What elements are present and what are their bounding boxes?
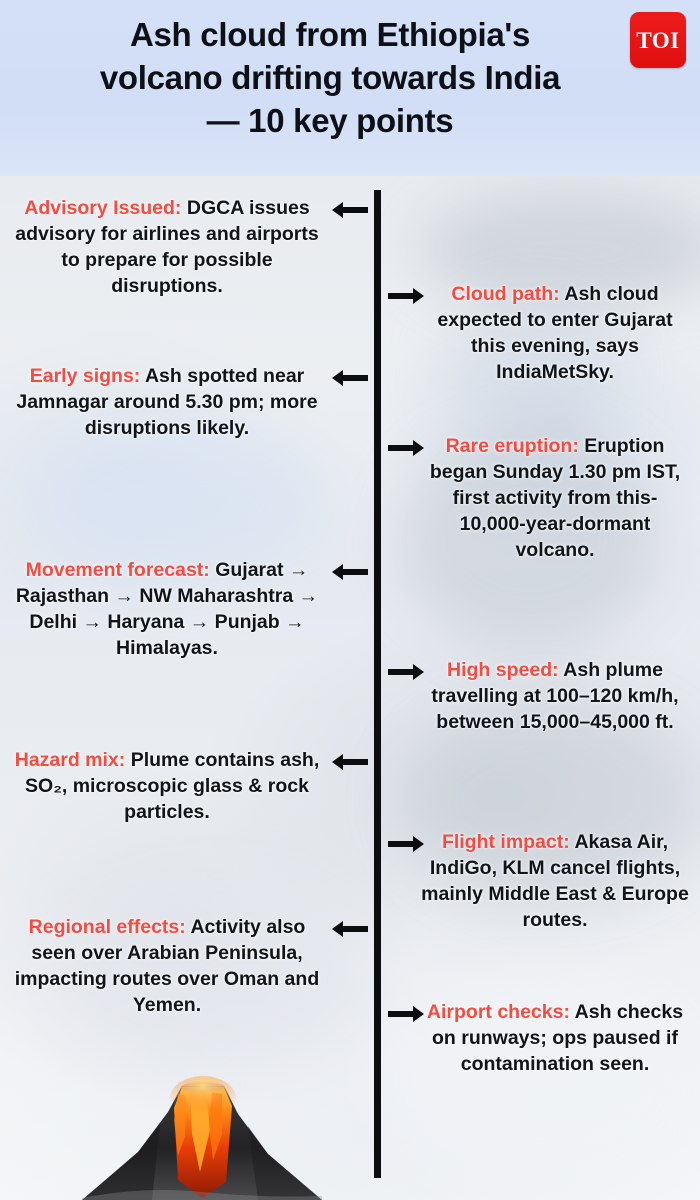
point-label: Rare eruption: [446, 435, 579, 457]
point-label: Movement forecast: [26, 559, 210, 581]
timeline-point-advisory-issued: Advisory Issued: DGCA issues advisory fo… [8, 196, 326, 300]
point-label: Regional effects: [29, 916, 186, 938]
infographic-page: Ash cloud from Ethiopia's volcano drifti… [0, 0, 700, 1200]
timeline-point-flight-impact: Flight impact: Akasa Air, IndiGo, KLM ca… [420, 830, 690, 934]
arrow-left-icon [330, 367, 370, 389]
arrow-left-icon [330, 199, 370, 221]
timeline-point-airport-checks: Airport checks: Ash checks on runways; o… [420, 1000, 690, 1078]
point-label: Advisory Issued: [24, 197, 181, 219]
timeline-point-rare-eruption: Rare eruption: Eruption began Sunday 1.3… [420, 434, 690, 564]
header-banner: Ash cloud from Ethiopia's volcano drifti… [0, 0, 700, 176]
title-line-1: Ash cloud from Ethiopia's [30, 14, 630, 57]
timeline-point-early-signs: Early signs: Ash spotted near Jamnagar a… [8, 364, 326, 442]
title-line-3: — 10 key points [30, 100, 630, 143]
timeline-axis [374, 190, 381, 1178]
toi-logo[interactable]: TOI [630, 12, 686, 68]
erupting-volcano-illustration [82, 1060, 322, 1200]
title-line-2: volcano drifting towards India [30, 57, 630, 100]
toi-logo-text: TOI [636, 29, 679, 52]
arrow-left-icon [330, 918, 370, 940]
arrow-left-icon [330, 561, 370, 583]
timeline-point-high-speed: High speed: Ash plume travelling at 100–… [420, 658, 690, 736]
timeline-point-movement-forecast: Movement forecast: Gujarat → Rajasthan →… [8, 558, 326, 662]
point-label: Flight impact: [442, 831, 570, 853]
page-title: Ash cloud from Ethiopia's volcano drifti… [30, 14, 630, 143]
point-label: High speed: [447, 659, 559, 681]
point-label: Hazard mix: [15, 749, 126, 771]
timeline-point-regional-effects: Regional effects: Activity also seen ove… [8, 915, 326, 1019]
point-label: Early signs: [30, 365, 141, 387]
timeline-point-hazard-mix: Hazard mix: Plume contains ash, SO₂, mic… [8, 748, 326, 826]
timeline-point-cloud-path: Cloud path: Ash cloud expected to enter … [420, 282, 690, 386]
point-label: Cloud path: [451, 283, 559, 305]
point-label: Airport checks: [427, 1001, 570, 1023]
arrow-left-icon [330, 751, 370, 773]
